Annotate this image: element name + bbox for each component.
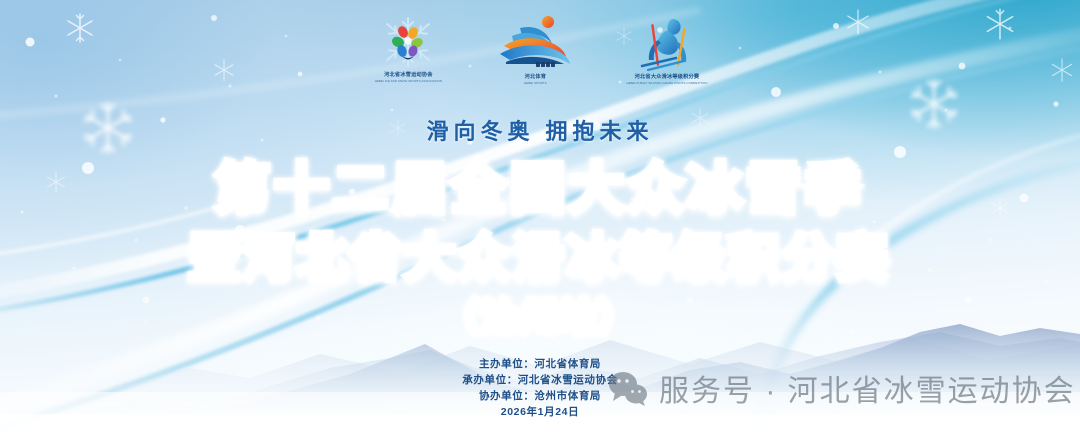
title-line-1: 第十二届全国大众冰雪季 [0,158,1080,220]
logo1-cn-label: 河北省冰雪运动协会 [384,71,433,78]
logo1-en-label: HEBEI ICE AND SNOW SPORTS ASSOCIATION [375,79,442,83]
title-line-2-text: 暨河北省大众滑冰等级积分赛 [189,233,891,283]
logo3-cn-label: 河北省大众滑冰等级积分赛 [635,73,700,80]
logo3-en-label: HEBEI PUBLIC SKATING GRADE POINTS COMPET… [626,81,707,85]
logo-hebei-sports[interactable]: 河北体育 HEBEI SPORTS [496,14,574,85]
wechat-bubbles-icon [608,370,648,406]
skier-wave-emblem-icon [496,14,574,72]
snowflake-people-emblem-icon [372,14,444,70]
title-line-1-text: 第十二届全国大众冰雪季 [216,162,865,216]
skating-figure-emblem-icon [634,14,700,72]
logo-skating-grade-points[interactable]: 河北省大众滑冰等级积分赛 HEBEI PUBLIC SKATING GRADE … [626,14,707,85]
tagline: 滑向冬奥 拥抱未来 [0,114,1080,146]
wechat-watermark: 服务号 · 河北省冰雪运动协会 [608,366,1076,410]
logo-row: 河北省冰雪运动协会 HEBEI ICE AND SNOW SPORTS ASSO… [0,14,1080,90]
watermark-text: 服务号 · 河北省冰雪运动协会 [659,366,1076,410]
logo-hebei-ice-snow-association[interactable]: 河北省冰雪运动协会 HEBEI ICE AND SNOW SPORTS ASSO… [372,14,444,83]
logo2-en-label: HEBEI SPORTS [524,81,547,85]
poster-canvas: 河北省冰雪运动协会 HEBEI ICE AND SNOW SPORTS ASSO… [0,0,1080,432]
title-block: 第十二届全国大众冰雪季 暨河北省大众滑冰等级积分赛 （沧州站） [0,158,1080,338]
title-line-3: （沧州站） [0,296,1080,338]
title-line-2: 暨河北省大众滑冰等级积分赛 [0,229,1080,287]
logo2-cn-label: 河北体育 [525,73,547,80]
title-line-3-text: （沧州站） [442,299,637,335]
